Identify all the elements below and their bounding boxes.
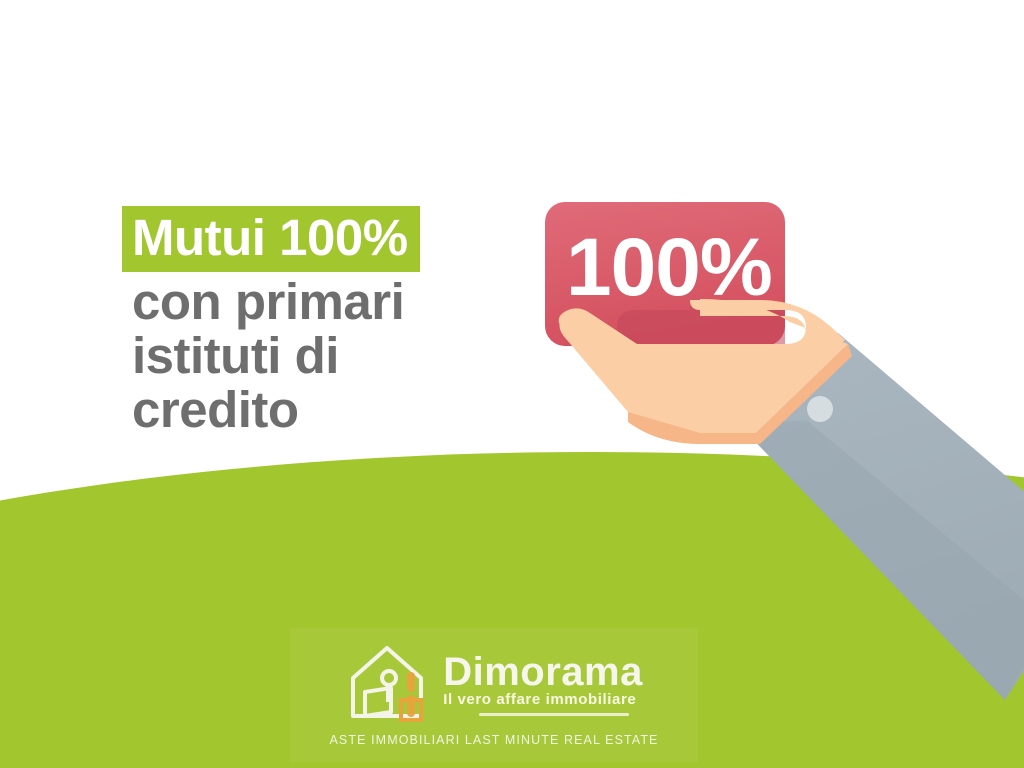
- headline-block: Mutui 100% con primari istituti di credi…: [125, 206, 545, 437]
- headline-line-1: Mutui 100%: [122, 206, 420, 272]
- poster-canvas: 100% Mutui 100% con primari istituti di …: [0, 0, 1024, 768]
- logo-tagline: Il vero affare immobiliare: [443, 691, 636, 709]
- logo-key-circle: [382, 671, 396, 685]
- logo-accent-bar-1: [407, 672, 415, 692]
- logo-rule: [479, 713, 629, 716]
- headline-line-2: con primari: [125, 275, 545, 329]
- badge-label: 100%: [566, 222, 772, 313]
- logo-wordmark: Dimorama Il vero affare immobiliare: [443, 651, 643, 716]
- logo-lockup: Dimorama Il vero affare immobiliare: [345, 638, 643, 724]
- sleeve-button: [807, 396, 833, 422]
- headline-line-4: credito: [125, 383, 545, 437]
- logo-subline: ASTE IMMOBILIARI LAST MINUTE REAL ESTATE: [329, 733, 658, 747]
- house-logo-icon: [345, 638, 437, 724]
- logo-watermark: Dimorama Il vero affare immobiliare ASTE…: [290, 628, 698, 762]
- logo-name: Dimorama: [443, 651, 643, 693]
- headline-line-3: istituti di: [125, 329, 545, 383]
